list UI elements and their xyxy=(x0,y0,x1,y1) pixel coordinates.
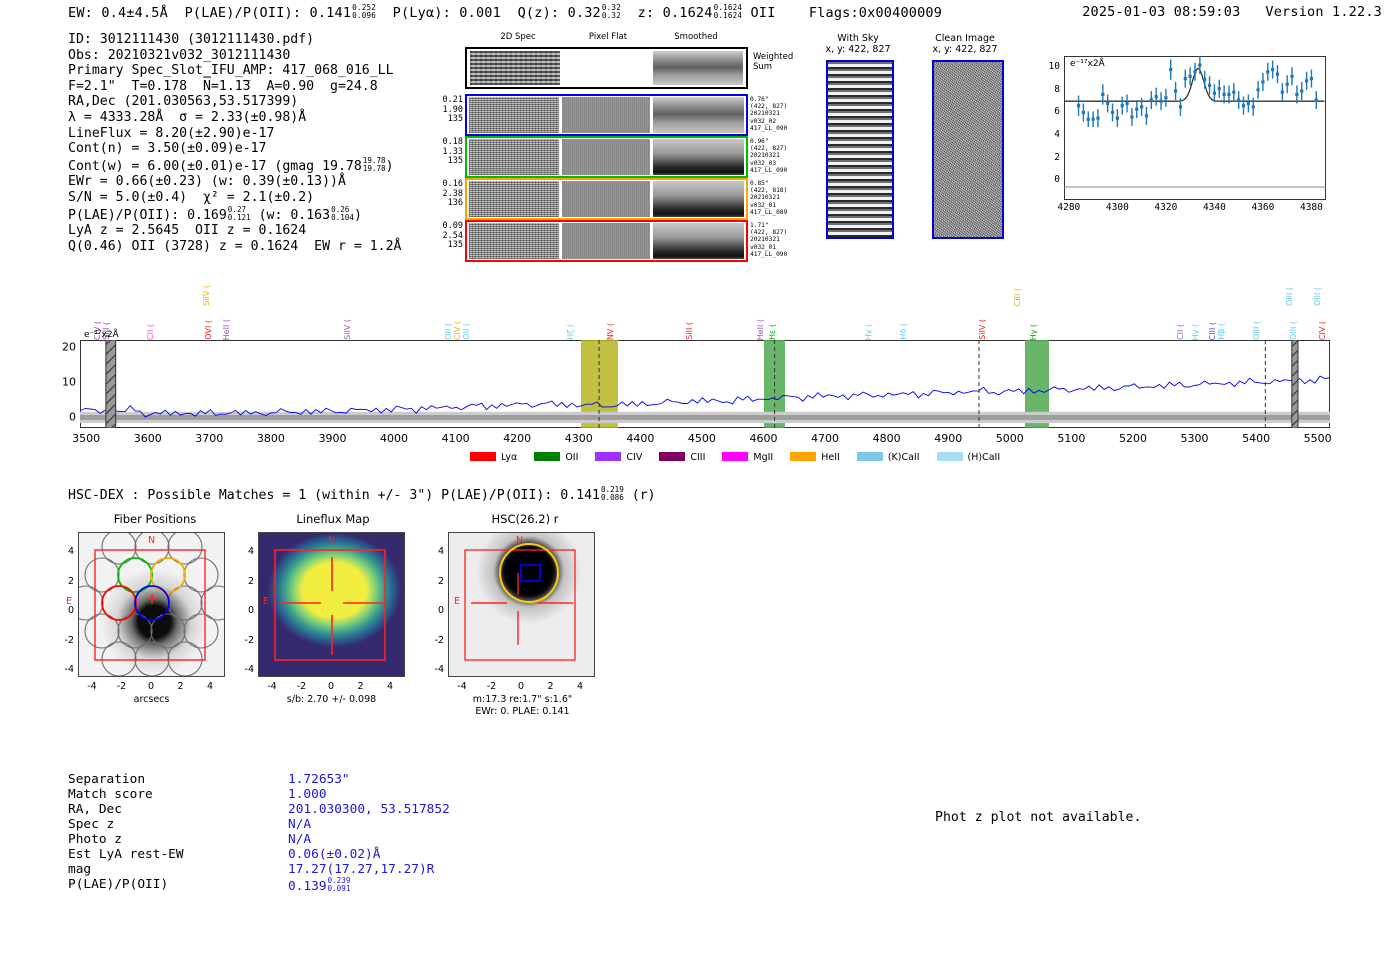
match-table-value: 17.27(17.27,17.27)R xyxy=(288,862,434,877)
lineplot-y-tick: 0 xyxy=(1038,174,1060,185)
spec2d-2dspec-cell xyxy=(469,223,559,259)
panel-x-tick: 4 xyxy=(577,681,583,692)
legend-swatch xyxy=(595,452,621,461)
hsc-overlay xyxy=(449,533,595,677)
panel-x-tick: 0 xyxy=(148,681,154,692)
info-line-specslot: Primary Spec_Slot_IFU_AMP: 417_068_016_L… xyxy=(68,63,401,79)
spectrum-line-label: Hγ ( xyxy=(1192,324,1200,340)
hsc-dex-summary: HSC-DEX : Possible Matches = 1 (within +… xyxy=(68,486,656,503)
panel-y-tick: -4 xyxy=(426,664,444,675)
panel-y-tick: 0 xyxy=(56,605,74,616)
match-table-key: Separation xyxy=(68,772,145,787)
spec2d-col-header-2dspec: 2D Spec xyxy=(478,32,558,42)
panel-x-tick: -2 xyxy=(117,681,126,692)
lineplot-y-tick: 10 xyxy=(1038,61,1060,72)
match-table-value: 0.1390.2390.091 xyxy=(288,877,350,894)
spectrum-line-label: CIV ( xyxy=(1319,321,1327,340)
legend-item: (H)CaII xyxy=(937,452,1001,463)
spectrum-line-label: Hβ ( xyxy=(1218,323,1226,340)
spec2d-smoothed-cell xyxy=(653,181,744,217)
info-line-id: ID: 3012111430 (3012111430.pdf) xyxy=(68,32,401,48)
spec2d-weighted-sum-row xyxy=(465,47,748,89)
spectrum-line-label: OIII ( xyxy=(1314,287,1322,306)
match-table-value: 1.000 xyxy=(288,787,327,802)
spectrum-line-labels: CIV (SiII (CII (SiIV (OVI (HeII (SiIV (O… xyxy=(80,272,1330,340)
spectrum-legend: LyαOIICIVCIIIMgIIHeII(K)CaII(H)CaII xyxy=(470,452,1017,463)
lineplot-x-tick: 4340 xyxy=(1203,202,1226,213)
spec2d-pixelflat-cell xyxy=(562,181,650,217)
legend-label: CIV xyxy=(626,452,642,463)
spec2d-row: 0.21 1.90 135 0.76" (422, 827) 20210321 … xyxy=(465,94,748,136)
spectrum-x-tick: 5300 xyxy=(1181,432,1209,445)
match-table-value: 0.06(±0.02)Å xyxy=(288,847,380,862)
panel-y-tick: -2 xyxy=(56,635,74,646)
spectrum-line-label: SiIV ( xyxy=(979,319,987,340)
full-spectrum-plot: CIV (SiII (CII (SiIV (OVI (HeII (SiIV (O… xyxy=(80,340,1330,428)
match-table-key: P(LAE)/P(OII) xyxy=(68,877,168,892)
panel-x-tick: -2 xyxy=(487,681,496,692)
spec2d-smoothed-cell xyxy=(653,139,744,175)
panel-y-tick: 2 xyxy=(56,576,74,587)
spectrum-line-label: SiIV ( xyxy=(344,319,352,340)
header-z-value: 0.1624 xyxy=(663,5,713,21)
spec2d-ws-pixelflat-cell xyxy=(563,51,651,85)
clean-image-title: Clean Imagex, y: 422, 827 xyxy=(915,33,1015,55)
spectrum-x-tick: 4400 xyxy=(626,432,654,445)
spectrum-x-tick: 4900 xyxy=(934,432,962,445)
spectrum-x-tick: 4100 xyxy=(442,432,470,445)
legend-swatch xyxy=(790,452,816,461)
info-line-contn: Cont(n) = 3.50(±0.09)e-17 xyxy=(68,141,401,157)
header-plae-value: 0.141 xyxy=(310,5,352,21)
hsc-compass-n: N xyxy=(516,535,523,546)
legend-item: MgII xyxy=(722,452,773,463)
lineplot-x-tick-labels: 428043004320434043604380 xyxy=(1064,202,1326,218)
lineplot-x-tick: 4360 xyxy=(1251,202,1274,213)
spec2d-row-left-stats: 0.21 1.90 135 xyxy=(443,96,463,125)
spectrum-x-tick: 3900 xyxy=(318,432,346,445)
spectrum-x-tick: 3700 xyxy=(195,432,223,445)
lineplot-x-tick: 4300 xyxy=(1106,202,1129,213)
spectrum-line-label: SiIV ( xyxy=(203,285,211,306)
spectrum-y-tick: 20 xyxy=(62,341,76,354)
info-line-seeing: F=2.1" T=0.178 N̅=1.1̅3 A=0.90 g=24.8 xyxy=(68,79,401,95)
spec2d-row-right-meta: 1.71" (422, 827) 20210321 v032_01 417_LL… xyxy=(750,222,787,258)
photz-message: Phot z plot not available. xyxy=(935,810,1141,825)
object-info-block: ID: 3012111430 (3012111430.pdf) Obs: 202… xyxy=(68,32,401,255)
legend-item: CIV xyxy=(595,452,642,463)
legend-label: MgII xyxy=(753,452,773,463)
info-line-lineflux: LineFlux = 8.20(±2.90)e-17 xyxy=(68,126,401,142)
lineflux-compass-e: E xyxy=(263,596,269,607)
info-line-sn: S/N = 5.0(±0.4) χ² = 2.1(±0.2) xyxy=(68,190,401,206)
spectrum-line-label: SiII ( xyxy=(686,322,694,340)
legend-swatch xyxy=(659,452,685,461)
spectrum-line-label: OVI ( xyxy=(205,320,213,340)
hsc-image xyxy=(448,532,595,677)
spectrum-x-tick: 4200 xyxy=(503,432,531,445)
lineflux-map-title: Lineflux Map xyxy=(248,512,418,526)
info-line-redshifts: LyA z = 2.5645 OII z = 0.1624 xyxy=(68,223,401,239)
spectrum-line-label: CII ( xyxy=(147,324,155,340)
legend-label: OII xyxy=(565,452,578,463)
spectrum-x-tick: 5400 xyxy=(1242,432,1270,445)
header-qz-value: 0.32 xyxy=(568,5,601,21)
legend-swatch xyxy=(937,452,963,461)
legend-label: (K)CaII xyxy=(888,452,920,463)
legend-item: (K)CaII xyxy=(857,452,920,463)
spec2d-row-left-stats: 0.09 2.54 135 xyxy=(443,222,463,251)
spectrum-line-label: HeII ( xyxy=(757,319,765,340)
fiber-overlay xyxy=(79,533,225,677)
match-table-value: N/A xyxy=(288,832,311,847)
lineplot-x-tick: 4280 xyxy=(1057,202,1080,213)
spec2d-pixelflat-cell xyxy=(562,223,650,259)
legend-label: HeII xyxy=(821,452,840,463)
panel-y-tick: 2 xyxy=(426,576,444,587)
match-table-value: 1.72653" xyxy=(288,772,350,787)
panel-x-tick: 0 xyxy=(328,681,334,692)
panel-y-tick: 0 xyxy=(426,605,444,616)
spec2d-row: 0.18 1.33 135 0.96" (422, 827) 20210321 … xyxy=(465,136,748,178)
lineflux-caption: s/b: 2.70 +/- 0.098 xyxy=(248,694,415,706)
spec2d-panel: 2D Spec Pixel Flat Smoothed Weighted Sum… xyxy=(420,32,760,260)
header-timestamp-block: 2025-01-03 08:59:03 Version 1.22.3 xyxy=(1082,4,1382,20)
panel-x-tick: 4 xyxy=(387,681,393,692)
header-plya-value: 0.001 xyxy=(459,5,501,21)
lineplot-y-tick: 4 xyxy=(1038,129,1060,140)
spectrum-x-tick: 4600 xyxy=(749,432,777,445)
with-sky-image xyxy=(826,60,894,239)
spec2d-pixelflat-cell xyxy=(562,139,650,175)
hsc-dex-suffix: (r) xyxy=(632,488,656,503)
header-ew-value: 0.4±4.5Å xyxy=(101,5,168,21)
legend-item: OII xyxy=(534,452,578,463)
hsc-compass-e: E xyxy=(454,596,460,607)
header-z-species: OII xyxy=(751,5,776,21)
panel-y-tick: 4 xyxy=(236,546,254,557)
legend-label: CIII xyxy=(690,452,705,463)
panel-x-tick: -4 xyxy=(87,681,96,692)
header-plae-label: P(LAE)/P(OII): xyxy=(185,5,302,21)
header-z-label: z: xyxy=(638,5,655,21)
spec2d-ws-smoothed-cell xyxy=(653,51,743,85)
spectrum-line-label: Hζ ( xyxy=(567,324,575,340)
spectrum-line-label: OIII ( xyxy=(1253,321,1261,340)
spectrum-y-tick: 0 xyxy=(69,411,76,424)
spectrum-line-label: Hγ ( xyxy=(865,324,873,340)
panel-x-tick: 2 xyxy=(547,681,553,692)
spectrum-x-tick: 4300 xyxy=(565,432,593,445)
version-label: Version 1.22.3 xyxy=(1265,4,1382,20)
spectrum-line-label: OIII ( xyxy=(1290,321,1298,340)
panel-y-tick: -2 xyxy=(426,635,444,646)
lineplot-y-tick: 6 xyxy=(1038,106,1060,117)
emission-line-zoom-plot: e⁻¹⁷x2Å 0246810 428043004320434043604380 xyxy=(1036,56,1326,226)
spectrum-line-label: OIII ( xyxy=(1286,287,1294,306)
match-table-key: Spec z xyxy=(68,817,114,832)
fiber-compass-n: N xyxy=(148,535,155,546)
lineplot-x-tick: 4320 xyxy=(1154,202,1177,213)
spectrum-line-label: Hδ ( xyxy=(900,323,908,340)
spec2d-row: 0.09 2.54 135 1.71" (422, 827) 20210321 … xyxy=(465,220,748,262)
fiber-positions-image xyxy=(78,532,225,677)
legend-swatch xyxy=(534,452,560,461)
spectrum-line-label: CIII ( xyxy=(1209,322,1217,340)
header-summary-line: EW: 0.4±4.5Å P(LAE)/P(OII): 0.1410.2520.… xyxy=(68,4,942,21)
spectrum-x-tick: 4500 xyxy=(688,432,716,445)
timestamp: 2025-01-03 08:59:03 xyxy=(1082,4,1240,20)
lineflux-map-image xyxy=(258,532,405,677)
fiber-x-axis-label: arcsecs xyxy=(78,694,225,706)
hsc-dex-prefix: HSC-DEX : Possible Matches = 1 (within +… xyxy=(68,488,600,503)
spectrum-line-label: Hγ ( xyxy=(1030,324,1038,340)
panel-x-tick: 2 xyxy=(177,681,183,692)
panel-x-tick: -4 xyxy=(457,681,466,692)
spectrum-x-tick: 5100 xyxy=(1057,432,1085,445)
spec2d-smoothed-cell xyxy=(653,97,744,133)
panel-x-tick: -2 xyxy=(297,681,306,692)
panel-x-tick: 0 xyxy=(518,681,524,692)
header-qz-errors: 0.320.32 xyxy=(602,4,621,20)
spec2d-col-header-smoothed: Smoothed xyxy=(656,32,736,42)
info-line-lambda: λ = 4333.28Å σ = 2.33(±0.98)Å xyxy=(68,110,401,126)
match-table-key: mag xyxy=(68,862,91,877)
legend-item: HeII xyxy=(790,452,840,463)
legend-item: CIII xyxy=(659,452,705,463)
lineplot-svg xyxy=(1064,56,1326,200)
info-line-radec: RA,Dec (201.030563,53.517399) xyxy=(68,94,401,110)
info-line-q: Q(0.46) OII (3728) z = 0.1624 EW r = 1.2… xyxy=(68,239,401,255)
header-plya-label: P(Lyα): xyxy=(393,5,451,21)
hsc-caption: m:17.3 re:1.7" s:1.6" EWr: 0. PLAE: 0.14… xyxy=(430,694,615,718)
legend-label: Lyα xyxy=(501,452,517,463)
panel-y-tick: 0 xyxy=(236,605,254,616)
clean-image xyxy=(932,60,1004,239)
panel-y-tick: -2 xyxy=(236,635,254,646)
info-line-plae: P(LAE)/P(OII): 0.1690.270.121 (w: 0.1630… xyxy=(68,206,401,224)
spectrum-x-tick: 5500 xyxy=(1304,432,1332,445)
hsc-image-title: HSC(26.2) r xyxy=(440,512,610,526)
info-line-ewr: EWr = 0.66(±0.23) (w: 0.39(±0.13))Å xyxy=(68,174,401,190)
spectrum-x-tick: 3800 xyxy=(257,432,285,445)
spec2d-2dspec-cell xyxy=(469,181,559,217)
spectrum-x-tick: 3600 xyxy=(134,432,162,445)
legend-swatch xyxy=(722,452,748,461)
match-table-value: N/A xyxy=(288,817,311,832)
match-table-key: Match score xyxy=(68,787,153,802)
spectrum-line-label: OII ( xyxy=(463,323,471,340)
header-z-errors: 0.16240.1624 xyxy=(714,4,743,20)
legend-label: (H)CaII xyxy=(968,452,1001,463)
with-sky-title: With Skyx, y: 422, 827 xyxy=(812,33,904,55)
spectrum-x-tick: 4000 xyxy=(380,432,408,445)
info-line-contw: Cont(w) = 6.00(±0.01)e-17 (gmag 19.7819.… xyxy=(68,157,401,175)
spectrum-x-tick: 5200 xyxy=(1119,432,1147,445)
fiber-positions-title: Fiber Positions xyxy=(60,512,250,526)
match-table-value: 201.030300, 53.517852 xyxy=(288,802,450,817)
spec2d-row: 0.16 2.38 136 0.85" (422, 818) 20210321 … xyxy=(465,178,748,220)
lineplot-y-tick: 2 xyxy=(1038,152,1060,163)
spectrum-line-label: CII ( xyxy=(1177,324,1185,340)
hsc-dex-errors: 0.2190.086 xyxy=(601,486,624,502)
spec2d-row-right-meta: 0.76" (422, 827) 20210321 v032_02 417_LL… xyxy=(750,96,787,132)
spectrum-flux-annotation: e⁻¹⁷x2Å xyxy=(84,330,119,340)
header-plae-errors: 0.2520.096 xyxy=(352,4,376,20)
spec2d-2dspec-cell xyxy=(469,139,559,175)
lineflux-compass-n: N xyxy=(328,535,335,546)
panel-y-tick: 2 xyxy=(236,576,254,587)
header-qz-label: Q(z): xyxy=(518,5,560,21)
spectrum-x-tick: 5000 xyxy=(996,432,1024,445)
spectrum-line-label: CIV ( xyxy=(454,321,462,340)
spec2d-smoothed-cell xyxy=(653,223,744,259)
spectrum-line-label: HeII ( xyxy=(223,319,231,340)
header-ew-label: EW: xyxy=(68,5,93,21)
spectrum-line-label: Hε ( xyxy=(769,324,777,340)
spec2d-weighted-sum-label: Weighted Sum xyxy=(753,52,793,72)
spectrum-x-tick: 4700 xyxy=(811,432,839,445)
match-table-key: Photo z xyxy=(68,832,122,847)
info-line-obs: Obs: 20210321v032_3012111430 xyxy=(68,48,401,64)
panel-y-tick: -4 xyxy=(56,664,74,675)
match-table-key: RA, Dec xyxy=(68,802,122,817)
spectrum-svg xyxy=(80,340,1330,428)
panel-x-tick: 2 xyxy=(357,681,363,692)
spectrum-line-label: NV ( xyxy=(607,323,615,340)
panel-y-tick: -4 xyxy=(236,664,254,675)
spec2d-row-left-stats: 0.16 2.38 136 xyxy=(443,180,463,209)
legend-item: Lyα xyxy=(470,452,517,463)
panel-y-tick: 4 xyxy=(56,546,74,557)
lineflux-overlay xyxy=(259,533,405,677)
panel-y-tick: 4 xyxy=(426,546,444,557)
legend-swatch xyxy=(470,452,496,461)
spec2d-row-left-stats: 0.18 1.33 135 xyxy=(443,138,463,167)
match-table-key: Est LyA rest-EW xyxy=(68,847,184,862)
panel-x-tick: 4 xyxy=(207,681,213,692)
panel-x-tick: -4 xyxy=(267,681,276,692)
spec2d-row-right-meta: 0.96" (422, 827) 20210321 v032_03 417_LL… xyxy=(750,138,787,174)
spec2d-row-right-meta: 0.85" (422, 818) 20210321 v032_01 417_LL… xyxy=(750,180,787,216)
spectrum-x-tick: 4800 xyxy=(873,432,901,445)
legend-swatch xyxy=(857,452,883,461)
spectrum-x-tick: 3500 xyxy=(72,432,100,445)
spec2d-ws-2dspec-cell xyxy=(470,51,560,85)
spec2d-col-header-pixelflat: Pixel Flat xyxy=(568,32,648,42)
spectrum-line-label: CIII ( xyxy=(1014,288,1022,306)
header-flags: Flags:0x00400009 xyxy=(809,5,942,21)
lineplot-y-tick: 8 xyxy=(1038,84,1060,95)
spectrum-y-tick: 10 xyxy=(62,376,76,389)
lineplot-x-tick: 4380 xyxy=(1300,202,1323,213)
spec2d-2dspec-cell xyxy=(469,97,559,133)
spec2d-pixelflat-cell xyxy=(562,97,650,133)
